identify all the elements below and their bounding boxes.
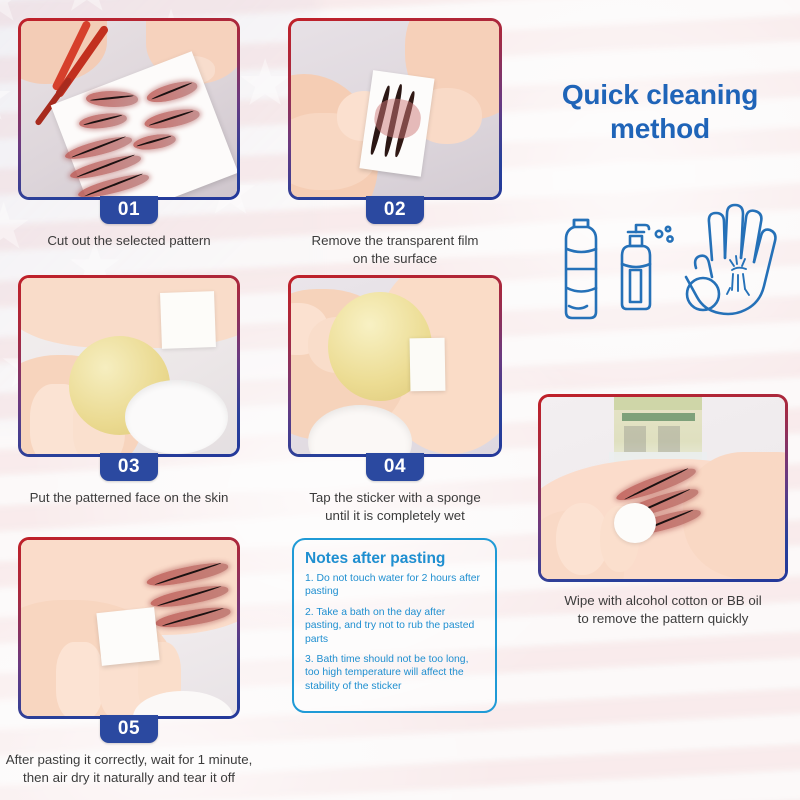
step-caption-02: Remove the transparent film on the surfa… (282, 232, 508, 268)
step-photo-05 (21, 540, 237, 716)
step-badge-04: 04 (366, 453, 424, 481)
pump-dispenser-icon (622, 225, 650, 309)
step-number-05: 05 (118, 718, 140, 740)
hand-with-tattoo-icon (686, 205, 775, 314)
notes-item-3: 3. Bath time should not be too long, too… (305, 653, 484, 693)
cleaning-supplies-illustration (546, 196, 796, 346)
notes-after-pasting-box: Notes after pasting 1. Do not touch wate… (292, 538, 497, 713)
step-badge-01: 01 (100, 196, 158, 224)
step-number-03: 03 (118, 456, 140, 478)
step-photo-03 (21, 278, 237, 454)
step-badge-05: 05 (100, 715, 158, 743)
step-caption-03: Put the patterned face on the skin (6, 489, 252, 507)
step-photo-card-03 (18, 275, 240, 457)
step-number-04: 04 (384, 456, 406, 478)
step-photo-01 (21, 21, 237, 197)
step-photo-card-04 (288, 275, 502, 457)
step-photo-card-02 (288, 18, 502, 200)
step-photo-card-05 (18, 537, 240, 719)
cleaning-photo-card (538, 394, 788, 582)
bubbles-icon (656, 227, 673, 242)
step-caption-01: Cut out the selected pattern (6, 232, 252, 250)
page-title: Quick cleaning method (522, 78, 798, 146)
cleaning-caption: Wipe with alcohol cotton or BB oil to re… (528, 592, 798, 628)
step-badge-02: 02 (366, 196, 424, 224)
notes-title: Notes after pasting (305, 549, 484, 568)
water-bottle-icon (566, 220, 596, 318)
step-badge-03: 03 (100, 453, 158, 481)
step-caption-05: After pasting it correctly, wait for 1 m… (0, 751, 286, 787)
notes-item-2: 2. Take a bath on the day after pasting,… (305, 606, 484, 646)
step-number-02: 02 (384, 199, 406, 221)
cleaning-photo (541, 397, 785, 579)
step-photo-card-01 (18, 18, 240, 200)
step-photo-02 (291, 21, 499, 197)
step-caption-04: Tap the sticker with a sponge until it i… (282, 489, 508, 525)
notes-item-1: 1. Do not touch water for 2 hours after … (305, 572, 484, 599)
step-photo-04 (291, 278, 499, 454)
step-number-01: 01 (118, 199, 140, 221)
